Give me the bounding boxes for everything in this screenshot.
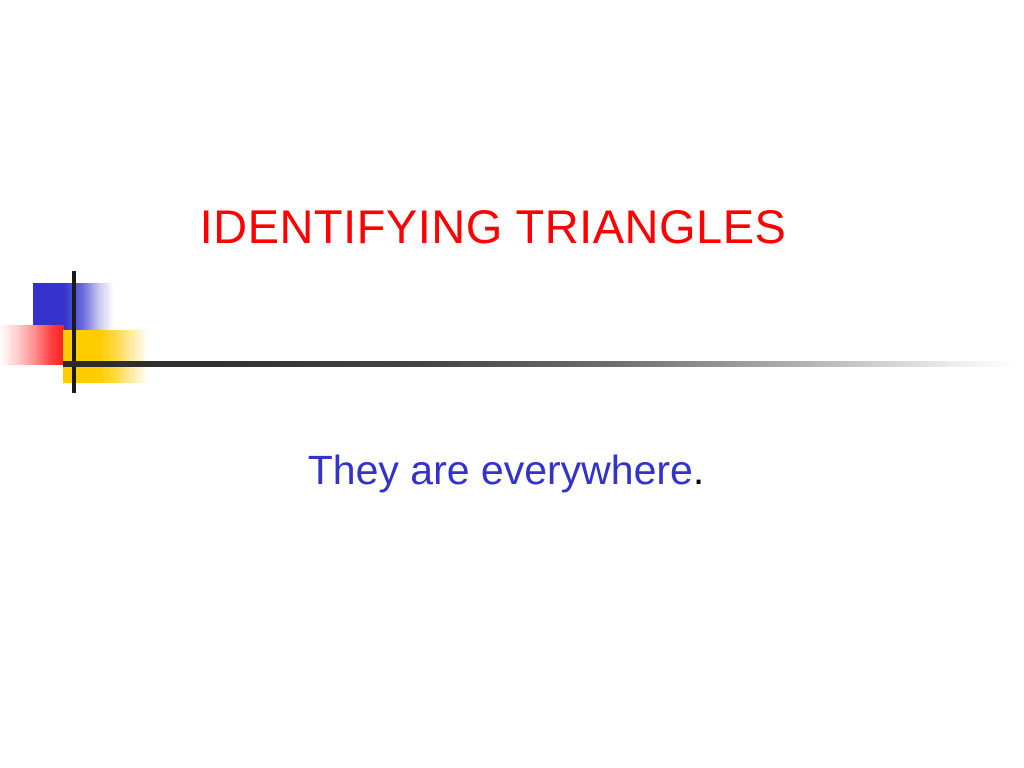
vertical-rule-decoration	[72, 271, 76, 393]
subtitle-text: They are everywhere	[308, 447, 693, 493]
decorative-motif	[0, 260, 1024, 405]
presentation-slide: IDENTIFYING TRIANGLES They are everywher…	[0, 0, 1024, 768]
subtitle-period: .	[693, 447, 704, 493]
page-title: IDENTIFYING TRIANGLES	[0, 203, 1024, 250]
horizontal-rule-decoration	[63, 361, 1015, 367]
red-block-decoration	[0, 325, 64, 365]
slide-subtitle: They are everywhere.	[0, 450, 1024, 491]
